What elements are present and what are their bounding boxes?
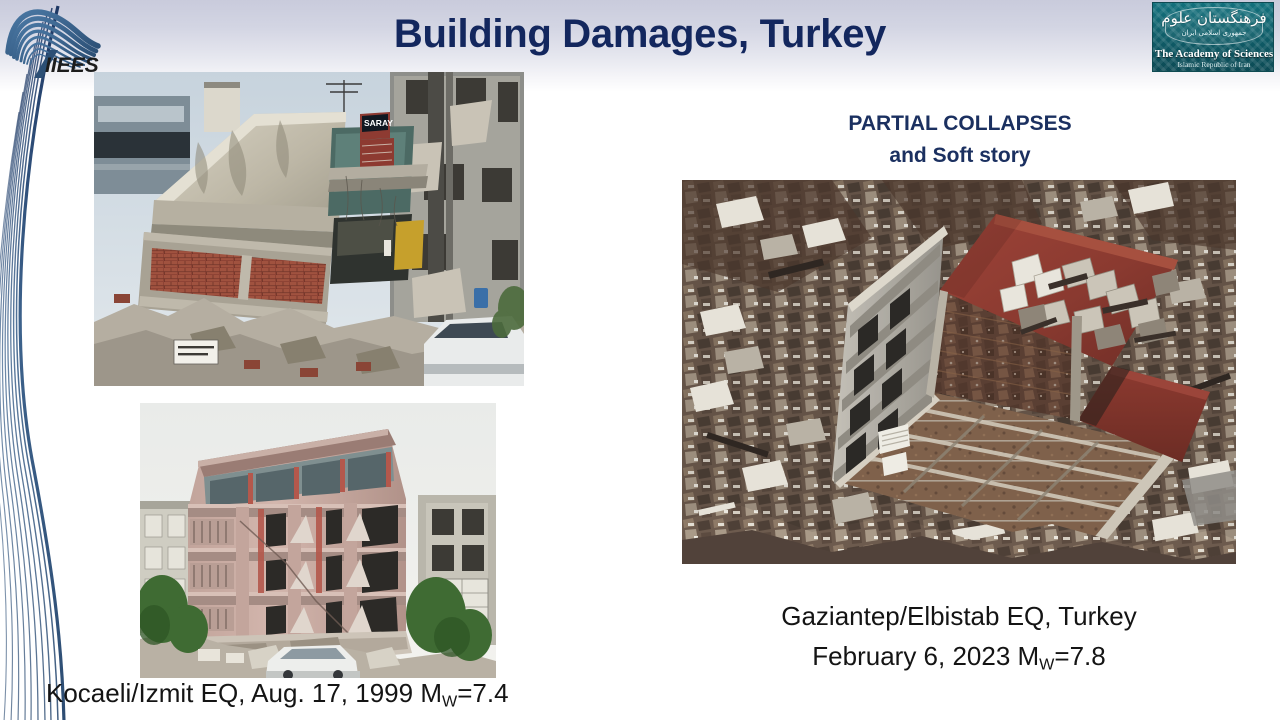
caption-gaziantep-suffix: =7.8: [1054, 641, 1105, 671]
slide-canvas: Building Damages, Turkey: [0, 0, 1280, 720]
heading-line-2: and Soft story: [690, 140, 1230, 172]
partial-collapses-heading: PARTIAL COLLAPSES and Soft story: [690, 108, 1230, 172]
academy-logo-persian-title: فرهنگستان علوم: [1153, 11, 1274, 26]
caption-gaziantep-prefix: February 6, 2023 M: [812, 641, 1039, 671]
academy-logo-persian-subtitle: جمهوری اسلامی ایران: [1153, 29, 1274, 37]
caption-kocaeli: Kocaeli/Izmit EQ, Aug. 17, 1999 MW=7.4: [46, 676, 686, 719]
academy-logo-english-title: The Academy of Sciences: [1153, 48, 1274, 60]
caption-gaziantep-line-1: Gaziantep/Elbistab EQ, Turkey: [682, 596, 1236, 636]
svg-text:SARAY: SARAY: [364, 118, 393, 128]
academy-of-sciences-logo: فرهنگستان علوم جمهوری اسلامی ایران The A…: [1152, 2, 1274, 72]
photo-gaziantep-aerial-collapse: [682, 180, 1236, 564]
photo-kocaeli-soft-story-building: [140, 403, 496, 678]
iiees-wordmark: IIEES: [45, 54, 99, 77]
caption-kocaeli-suffix: =7.4: [457, 678, 508, 708]
caption-gaziantep-line-2: February 6, 2023 MW=7.8: [682, 636, 1236, 685]
caption-kocaeli-subscript: W: [442, 693, 457, 711]
caption-gaziantep: Gaziantep/Elbistab EQ, Turkey February 6…: [682, 596, 1236, 685]
heading-line-1: PARTIAL COLLAPSES: [690, 108, 1230, 140]
academy-logo-english-subtitle: Islamic Republic of Iran: [1153, 60, 1274, 69]
iiees-logo: IIEES: [2, 0, 110, 78]
caption-gaziantep-subscript: W: [1039, 656, 1054, 674]
photo-kocaeli-collapsed-building: SARAY: [94, 72, 524, 386]
caption-kocaeli-prefix: Kocaeli/Izmit EQ, Aug. 17, 1999 M: [46, 678, 442, 708]
page-title: Building Damages, Turkey: [0, 12, 1280, 57]
